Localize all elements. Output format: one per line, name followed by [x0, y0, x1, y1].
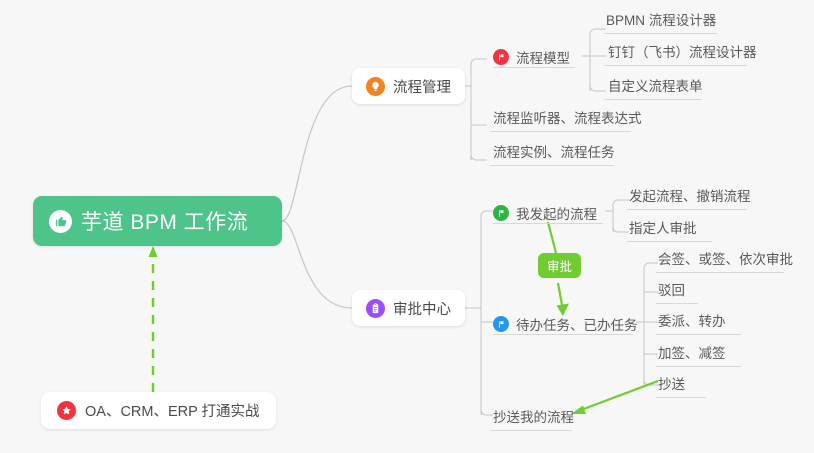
mindmap-canvas: 芋道 BPM 工作流 流程管理 审批中心 OA、CRM、ERP 打通实战: [0, 0, 814, 453]
clipboard-icon: [366, 299, 385, 318]
leaf-todo-done-tasks[interactable]: 待办任务、已办任务: [493, 314, 638, 334]
thumbs-up-icon: [49, 210, 72, 233]
branch-label: 流程管理: [393, 76, 451, 97]
leaf-underline: [493, 223, 603, 224]
leaf-process-instance[interactable]: 流程实例、流程任务: [493, 144, 615, 165]
leaf-underline: [627, 241, 712, 242]
leaf-label: 我发起的流程: [516, 203, 597, 223]
leaf-underline: [604, 99, 701, 100]
leaf-start-cancel-process[interactable]: 发起流程、撤销流程: [629, 188, 751, 209]
leaf-underline: [656, 397, 706, 398]
leaf-underline: [493, 67, 575, 68]
leaf-reject[interactable]: 驳回: [658, 282, 685, 303]
root-label: 芋道 BPM 工作流: [81, 206, 248, 236]
leaf-assignee-approval[interactable]: 指定人审批: [629, 220, 697, 241]
leaf-underline: [604, 33, 717, 34]
leaf-underline: [490, 131, 631, 132]
root-node[interactable]: 芋道 BPM 工作流: [33, 196, 282, 246]
tip-node[interactable]: OA、CRM、ERP 打通实战: [41, 392, 276, 429]
annotation-badge-approval[interactable]: 审批: [538, 253, 581, 278]
leaf-bpmn-designer[interactable]: BPMN 流程设计器: [606, 12, 716, 33]
leaf-process-listener[interactable]: 流程监听器、流程表达式: [493, 110, 642, 131]
star-icon: [57, 401, 76, 420]
lightbulb-icon: [366, 77, 385, 96]
leaf-delegate-transfer[interactable]: 委派、转办: [658, 313, 726, 334]
leaf-underline: [604, 65, 747, 66]
leaf-underline: [656, 303, 698, 304]
leaf-underline: [656, 334, 741, 335]
flag-icon: [493, 316, 509, 332]
leaf-underline: [493, 334, 633, 335]
leaf-underline: [490, 165, 614, 166]
leaf-countersign[interactable]: 会签、或签、依次审批: [658, 251, 793, 272]
leaf-custom-form[interactable]: 自定义流程表单: [608, 78, 703, 99]
tip-node-label: OA、CRM、ERP 打通实战: [85, 400, 260, 421]
branch-node-approval-center[interactable]: 审批中心: [352, 290, 465, 326]
leaf-underline: [656, 366, 741, 367]
leaf-underline: [627, 209, 747, 210]
leaf-underline: [490, 430, 572, 431]
leaf-my-initiated[interactable]: 我发起的流程: [493, 203, 597, 223]
leaf-cc[interactable]: 抄送: [658, 376, 685, 397]
branch-label: 审批中心: [393, 298, 451, 319]
branch-node-process-management[interactable]: 流程管理: [352, 68, 465, 104]
leaf-process-model[interactable]: 流程模型: [493, 47, 570, 67]
leaf-dingtalk-designer[interactable]: 钉钉（飞书）流程设计器: [608, 44, 757, 65]
flag-icon: [493, 49, 509, 65]
annotation-badge-label: 审批: [547, 256, 572, 275]
flag-icon: [493, 205, 509, 221]
leaf-add-remove-sign[interactable]: 加签、减签: [658, 345, 726, 366]
leaf-cc-to-me[interactable]: 抄送我的流程: [493, 409, 574, 430]
leaf-label: 待办任务、已办任务: [516, 314, 638, 334]
leaf-underline: [656, 272, 784, 273]
leaf-label: 流程模型: [516, 47, 570, 67]
